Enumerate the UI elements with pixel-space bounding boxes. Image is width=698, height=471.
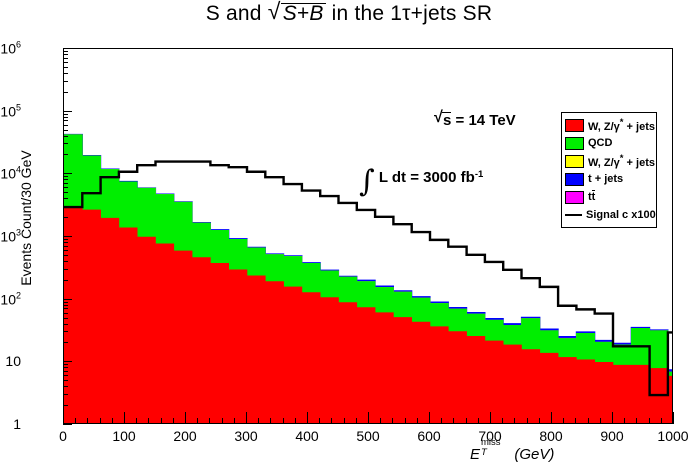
legend-item[interactable]: t + jets — [565, 170, 656, 188]
legend-line-marker — [565, 214, 582, 216]
x-tick-minor — [380, 418, 381, 424]
x-tick-major — [429, 412, 430, 424]
x-tick-minor — [100, 418, 101, 424]
y-tick-minor — [63, 206, 68, 207]
x-tick-minor — [197, 418, 198, 424]
legend-item[interactable]: W, Z/γ* + jets — [565, 116, 656, 134]
sqrt-bar — [281, 3, 326, 4]
x-tick-major — [673, 412, 674, 424]
x-tick-minor — [600, 418, 601, 424]
x-title-unit: (GeV) — [514, 446, 554, 463]
sqrt-s-group: √s — [434, 112, 451, 129]
x-tick-minor — [234, 418, 235, 424]
y-tick-minor — [63, 125, 68, 126]
x-tick-minor — [136, 418, 137, 424]
y-tick-minor — [63, 342, 68, 343]
x-tick-minor — [161, 418, 162, 424]
y-tick-minor — [63, 143, 68, 144]
legend-label: Signal c x100 — [586, 209, 656, 221]
energy-symbol: s — [443, 112, 451, 129]
y-tick-label: 103 — [0, 228, 21, 245]
page-title: S and √S+B in the 1τ+jets SR — [0, 2, 698, 26]
legend-label: W, Z/γ* + jets — [588, 153, 655, 169]
y-tick-label: 10 — [5, 353, 21, 369]
y-tick-minor — [63, 73, 68, 74]
x-tick-major — [612, 412, 613, 424]
y-tick-minor — [63, 371, 68, 372]
x-tick-major — [63, 412, 64, 424]
legend-color-swatch — [565, 137, 584, 150]
x-tick-label: 200 — [173, 428, 196, 444]
y-tick-minor — [63, 154, 68, 155]
radicand-op: + — [297, 2, 309, 25]
y-tick-minor — [63, 242, 68, 243]
y-tick-label: 1 — [13, 416, 21, 432]
x-axis-title: EmissT (GeV) — [470, 444, 554, 463]
x-tick-minor — [392, 418, 393, 424]
y-tick-minor — [63, 394, 68, 395]
y-tick-minor — [63, 114, 68, 115]
y-tick-minor — [63, 239, 68, 240]
legend-color-swatch — [565, 155, 584, 168]
x-tick-major — [185, 412, 186, 424]
x-tick-minor — [624, 418, 625, 424]
x-tick-minor — [283, 418, 284, 424]
lumi-exponent: -1 — [475, 169, 483, 180]
x-tick-label: 400 — [295, 428, 318, 444]
x-tick-minor — [661, 418, 662, 424]
annotation-energy: √s = 14 TeV — [434, 112, 516, 129]
x-tick-minor — [441, 418, 442, 424]
legend-item[interactable]: tt — [565, 188, 656, 206]
x-tick-major — [307, 412, 308, 424]
x-tick-minor — [649, 418, 650, 424]
x-tick-minor — [270, 418, 271, 424]
y-tick-label: 105 — [0, 102, 21, 119]
y-tick-label: 104 — [0, 165, 21, 182]
x-tick-label: 700 — [478, 428, 501, 444]
x-tick-minor — [636, 418, 637, 424]
x-tick-minor — [514, 418, 515, 424]
integral-icon: ∫ — [359, 164, 375, 199]
x-tick-minor — [173, 418, 174, 424]
y-tick-minor — [63, 198, 68, 199]
y-tick-minor — [63, 130, 68, 131]
plot-frame: √s = 14 TeV ∫ L dt = 3000 fb-1 W, Z/γ* +… — [63, 48, 673, 424]
x-tick-label: 900 — [600, 428, 623, 444]
x-tick-minor — [319, 418, 320, 424]
y-tick-minor — [63, 81, 68, 82]
x-tick-minor — [502, 418, 503, 424]
x-tick-minor — [209, 418, 210, 424]
legend-color-swatch — [565, 173, 584, 186]
root-figure: S and √S+B in the 1τ+jets SR Events Coun… — [0, 0, 698, 471]
y-tick-minor — [63, 117, 68, 118]
x-tick-minor — [453, 418, 454, 424]
sqrt-s-bar — [442, 112, 451, 113]
lumi-text: L dt = 3000 fb — [379, 169, 475, 186]
y-tick-minor — [63, 261, 68, 262]
legend-label: t + jets — [588, 173, 623, 185]
x-tick-minor — [344, 418, 345, 424]
y-tick-minor — [63, 51, 68, 52]
title-suffix: in the 1τ+jets SR — [332, 2, 493, 25]
y-tick-major — [63, 173, 72, 174]
x-tick-label: 500 — [356, 428, 379, 444]
x-tick-minor — [466, 418, 467, 424]
x-tick-label: 1000 — [657, 428, 688, 444]
y-tick-major — [63, 424, 72, 425]
y-tick-minor — [63, 331, 68, 332]
legend-item[interactable]: QCD — [565, 134, 656, 152]
x-tick-minor — [356, 418, 357, 424]
y-tick-minor — [63, 250, 68, 251]
annotation-luminosity: ∫ L dt = 3000 fb-1 — [359, 164, 483, 199]
legend-color-swatch — [565, 119, 584, 132]
legend-box: W, Z/γ* + jetsQCDW, Z/γ* + jetst + jetst… — [561, 112, 657, 228]
x-tick-minor — [588, 418, 589, 424]
x-tick-minor — [295, 418, 296, 424]
x-tick-minor — [563, 418, 564, 424]
y-tick-minor — [63, 269, 68, 270]
y-tick-minor — [63, 187, 68, 188]
x-tick-major — [368, 412, 369, 424]
x-title-symbol: E — [470, 446, 480, 463]
x-title-sub: T — [481, 447, 487, 458]
y-tick-minor — [63, 217, 68, 218]
x-tick-label: 600 — [417, 428, 440, 444]
x-tick-label: 0 — [59, 428, 67, 444]
x-tick-major — [490, 412, 491, 424]
x-tick-minor — [222, 418, 223, 424]
y-tick-minor — [63, 313, 68, 314]
y-tick-major — [63, 361, 72, 362]
title-prefix: S and — [206, 2, 262, 25]
y-tick-minor — [63, 246, 68, 247]
x-tick-major — [124, 412, 125, 424]
histogram-layer — [64, 207, 672, 423]
y-tick-minor — [63, 176, 68, 177]
y-tick-minor — [63, 318, 68, 319]
x-tick-major — [551, 412, 552, 424]
y-tick-minor — [63, 192, 68, 193]
y-tick-minor — [63, 136, 68, 137]
radicand-a: S — [283, 2, 297, 25]
x-tick-minor — [539, 418, 540, 424]
y-tick-minor — [63, 92, 68, 93]
y-tick-minor — [63, 302, 68, 303]
x-tick-label: 100 — [112, 428, 135, 444]
y-tick-major — [63, 111, 72, 112]
x-tick-label: 800 — [539, 428, 562, 444]
y-tick-major — [63, 236, 72, 237]
y-tick-minor — [63, 364, 68, 365]
y-tick-minor — [63, 62, 68, 63]
energy-value: = 14 TeV — [456, 112, 516, 129]
x-tick-minor — [148, 418, 149, 424]
x-tick-minor — [87, 418, 88, 424]
legend-label: QCD — [588, 137, 612, 149]
legend-item[interactable]: W, Z/γ* + jets — [565, 152, 656, 170]
y-tick-label: 106 — [0, 40, 21, 57]
y-tick-minor — [63, 367, 68, 368]
legend-color-swatch — [565, 191, 584, 204]
y-tick-minor — [63, 54, 68, 55]
x-tick-minor — [75, 418, 76, 424]
y-tick-minor — [63, 280, 68, 281]
x-tick-minor — [478, 418, 479, 424]
y-tick-minor — [63, 255, 68, 256]
x-tick-minor — [417, 418, 418, 424]
x-tick-major — [246, 412, 247, 424]
x-tick-minor — [258, 418, 259, 424]
legend-label: tt — [588, 191, 595, 203]
y-tick-minor — [63, 305, 68, 306]
y-tick-minor — [63, 405, 68, 406]
y-tick-minor — [63, 58, 68, 59]
legend-label: W, Z/γ* + jets — [588, 117, 655, 133]
radicand-b: B — [309, 2, 323, 25]
y-tick-minor — [63, 386, 68, 387]
y-tick-major — [63, 299, 72, 300]
y-tick-minor — [63, 120, 68, 121]
y-tick-minor — [63, 183, 68, 184]
y-tick-minor — [63, 308, 68, 309]
plot-area — [64, 49, 672, 423]
y-tick-minor — [63, 375, 68, 376]
y-tick-minor — [63, 67, 68, 68]
sqrt-hook: √ — [268, 1, 281, 21]
y-axis-title: Events Count/30 GeV — [18, 118, 34, 318]
histogram-svg — [64, 49, 672, 423]
x-tick-minor — [112, 418, 113, 424]
x-tick-minor — [527, 418, 528, 424]
x-tick-label: 300 — [234, 428, 257, 444]
x-tick-minor — [405, 418, 406, 424]
x-tick-minor — [575, 418, 576, 424]
x-tick-minor — [331, 418, 332, 424]
y-tick-minor — [63, 380, 68, 381]
sqrt-radical: √S+B — [268, 2, 326, 26]
y-tick-label: 102 — [0, 290, 21, 307]
y-tick-minor — [63, 324, 68, 325]
y-tick-minor — [63, 179, 68, 180]
legend-item[interactable]: Signal c x100 — [565, 206, 656, 224]
y-tick-major — [63, 48, 72, 49]
